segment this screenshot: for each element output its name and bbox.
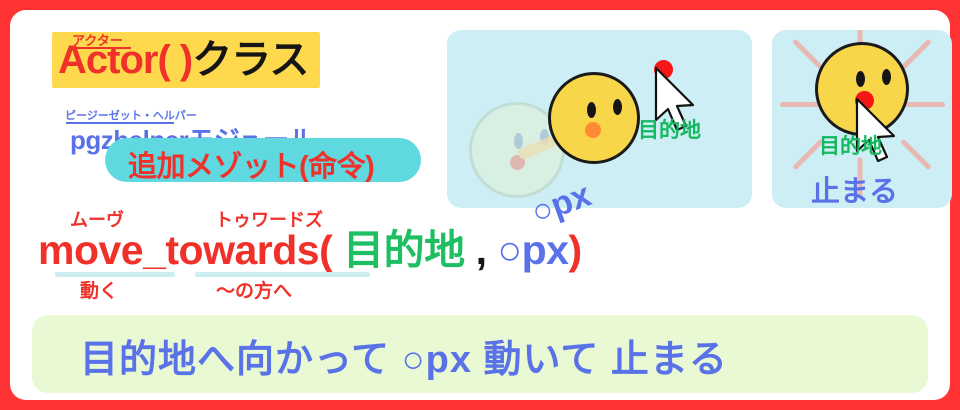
stopped-destination-label: 目的地 bbox=[819, 130, 882, 160]
smiley-eye-right bbox=[613, 99, 622, 115]
signature-func-name: move_towards( bbox=[38, 227, 332, 273]
title-jp: クラス bbox=[192, 38, 308, 82]
stopped-eye-left bbox=[856, 71, 865, 87]
page-title: Actor( )クラス bbox=[58, 35, 308, 85]
red-frame: アクター Actor( )クラス ピージーゼット・ヘルパー pgzhelperモ… bbox=[0, 0, 960, 410]
smiley-mouth bbox=[585, 122, 601, 138]
ray-w bbox=[780, 102, 820, 107]
ray-e bbox=[905, 102, 945, 107]
stop-label: 止まる bbox=[811, 168, 898, 210]
stopped-eye-right bbox=[882, 69, 891, 85]
added-method-label: 追加メゾット(命令) bbox=[128, 143, 374, 185]
signature-close-paren: ) bbox=[568, 227, 581, 273]
ray-ne bbox=[900, 39, 932, 71]
gloss-towards: 〜の方へ bbox=[216, 276, 292, 303]
signature-arg-target: 目的地 bbox=[332, 227, 475, 273]
function-signature: move_towards( 目的地 , ○px) bbox=[38, 226, 582, 274]
summary-text: 目的地へ向かって ○px 動いて 止まる bbox=[80, 328, 728, 383]
ghost-eye-left bbox=[514, 133, 523, 149]
gloss-move: 動く bbox=[80, 276, 118, 303]
title-en: Actor( ) bbox=[58, 38, 192, 82]
destination-label: 目的地 bbox=[638, 114, 701, 144]
page-canvas: アクター Actor( )クラス ピージーゼット・ヘルパー pgzhelperモ… bbox=[10, 10, 950, 400]
ray-nw bbox=[792, 39, 824, 71]
smiley-eye-left bbox=[587, 102, 596, 118]
illustration-panel-stop: 目的地 止まる bbox=[772, 30, 952, 208]
signature-arg-distance: ○px bbox=[486, 227, 568, 273]
signature-comma: , bbox=[476, 227, 487, 273]
smiley-face bbox=[548, 72, 640, 164]
illustration-panel-move: 目的地 ○px bbox=[447, 30, 752, 208]
